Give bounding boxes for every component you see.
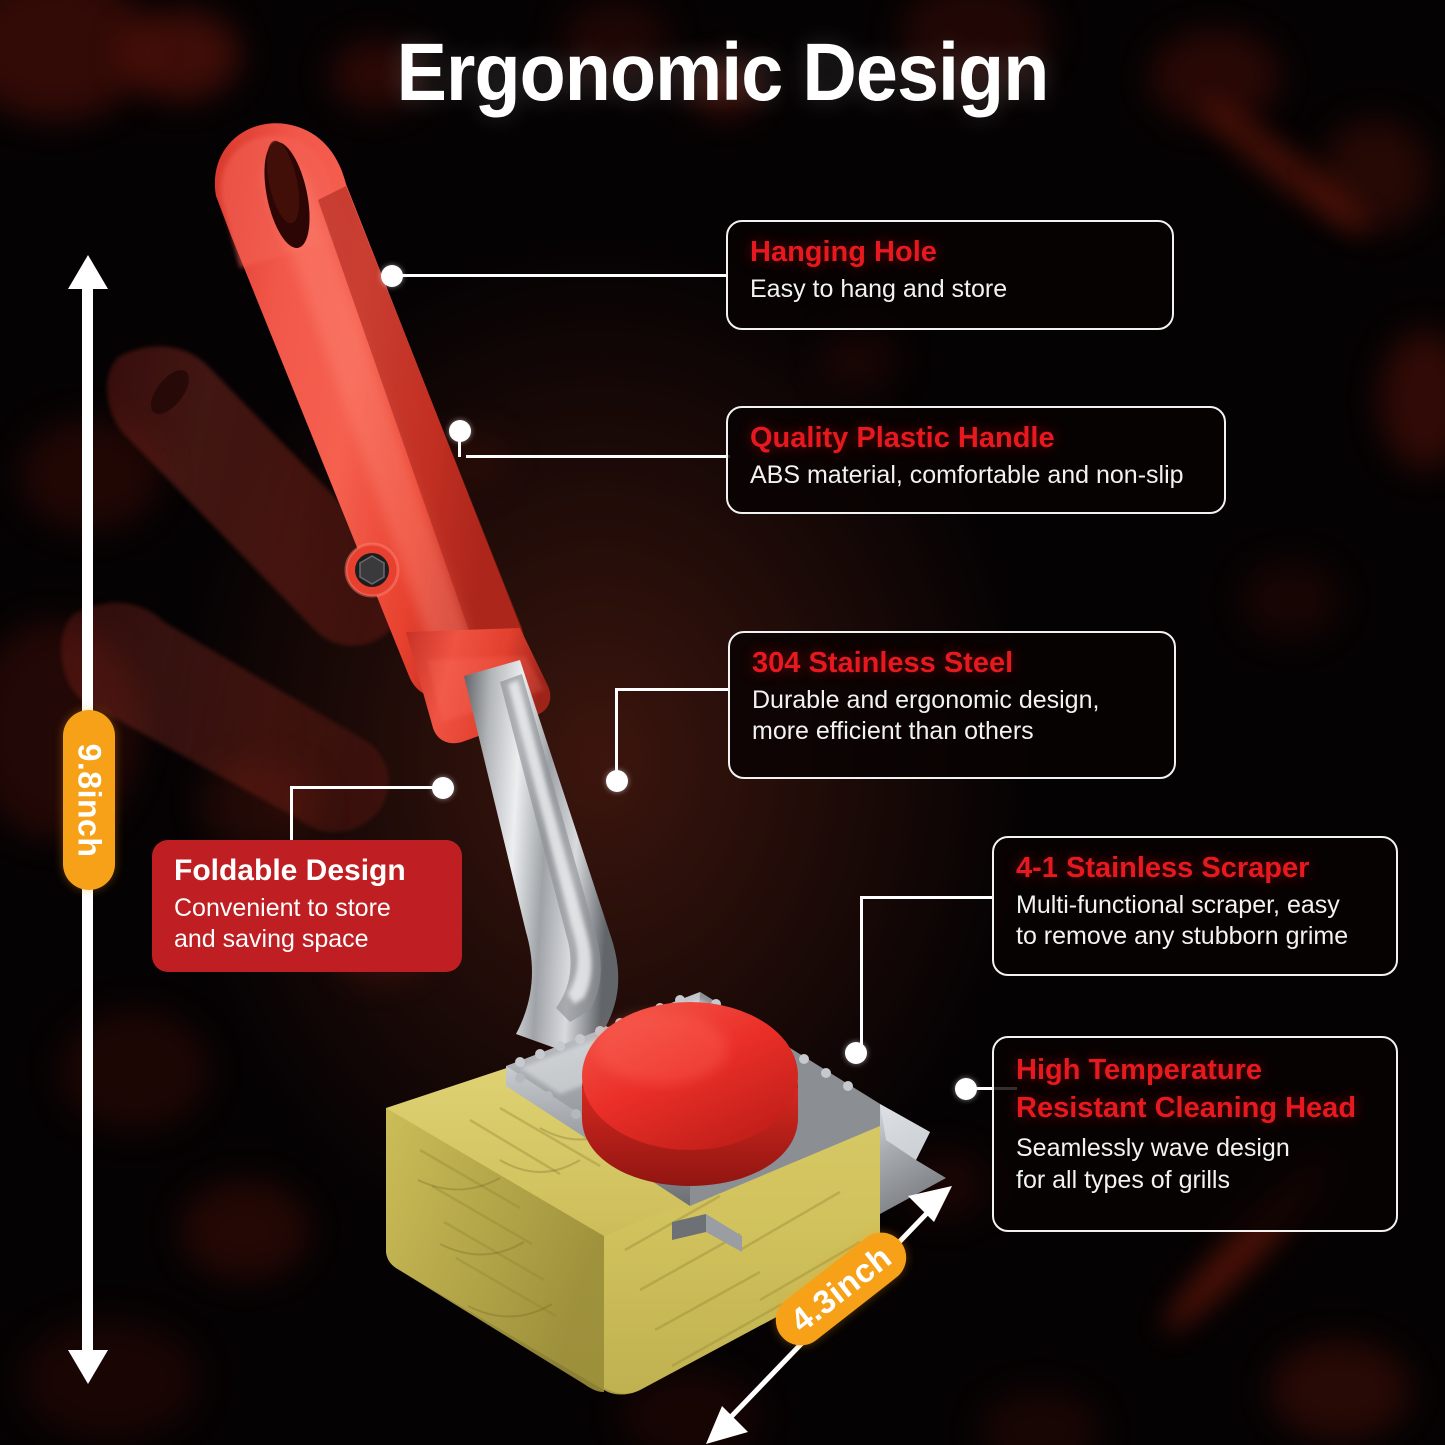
callout-title: High Temperature (1016, 1054, 1376, 1088)
pivot-bolt (346, 544, 398, 596)
height-dimension-label: 9.8inch (71, 743, 108, 857)
leader-elbow-scraper (860, 896, 863, 1052)
callout-body-line: ABS material, comfortable and non-slip (750, 460, 1204, 492)
callout-body-line: Seamlessly wave design (1016, 1133, 1376, 1165)
leader-elbow-handle (458, 431, 461, 457)
leader-line-scraper (862, 896, 992, 899)
callout-hanging-hole[interactable]: Hanging Hole Easy to hang and store (726, 220, 1174, 330)
leader-elbow-steel (615, 690, 618, 776)
height-arrow-head-top (68, 255, 108, 289)
infographic-canvas: Ergonomic Design Hanging Hole Easy to ha… (0, 0, 1445, 1445)
callout-body-line: Durable and ergonomic design, (752, 685, 1154, 717)
leader-line-steel (615, 688, 730, 691)
leader-dot-scraper (845, 1042, 867, 1064)
height-arrow-head-bottom (68, 1350, 108, 1384)
callout-body-line: Easy to hang and store (750, 274, 1152, 306)
callout-title: 304 Stainless Steel (752, 647, 1154, 681)
leader-line-hanging-hole (398, 274, 728, 277)
callout-stainless-scraper[interactable]: 4-1 Stainless Scraper Multi-functional s… (992, 836, 1398, 976)
callout-cleaning-head[interactable]: High Temperature Resistant Cleaning Head… (992, 1036, 1398, 1232)
callout-body-line: to remove any stubborn grime (1016, 921, 1376, 953)
callout-body-line: for all types of grills (1016, 1165, 1376, 1197)
callout-body-line: more efficient than others (752, 716, 1154, 748)
leader-line-foldable (290, 786, 440, 789)
height-dimension-badge: 9.8inch (63, 710, 115, 890)
callout-title: 4-1 Stainless Scraper (1016, 852, 1376, 886)
callout-title: Quality Plastic Handle (750, 422, 1204, 456)
callout-foldable-design[interactable]: Foldable Design Convenient to store and … (152, 840, 462, 972)
callout-stainless-steel[interactable]: 304 Stainless Steel Durable and ergonomi… (728, 631, 1176, 779)
callout-title: Hanging Hole (750, 236, 1152, 270)
callout-quality-plastic-handle[interactable]: Quality Plastic Handle ABS material, com… (726, 406, 1226, 514)
callout-title: Foldable Design (174, 854, 442, 889)
page-title: Ergonomic Design (58, 26, 1387, 120)
callout-body-line: Multi-functional scraper, easy (1016, 890, 1376, 922)
callout-body-line: Convenient to store (174, 893, 442, 925)
callout-title-second-line: Resistant Cleaning Head (1016, 1092, 1376, 1126)
callout-body-line: and saving space (174, 924, 442, 956)
leader-line-handle (466, 455, 730, 458)
leader-elbow-foldable (290, 786, 293, 842)
